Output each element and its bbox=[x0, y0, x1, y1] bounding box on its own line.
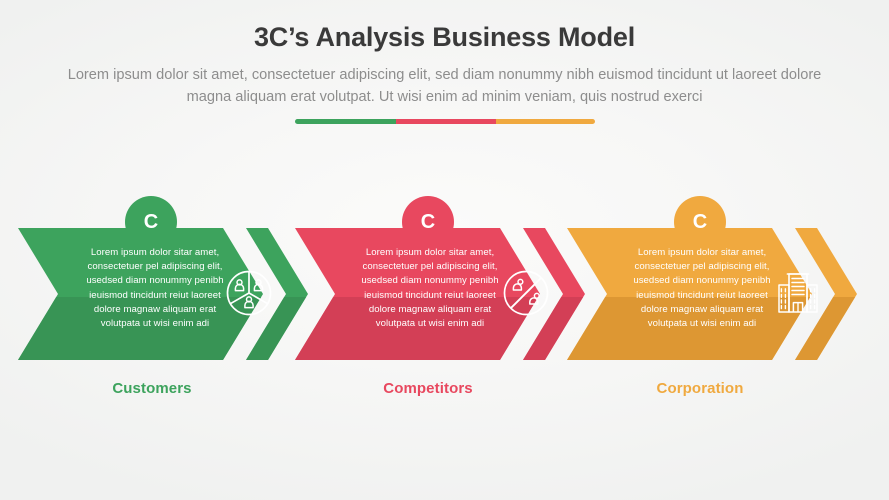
divider-green-segment bbox=[295, 119, 397, 124]
label-customers: Customers bbox=[42, 380, 262, 397]
badge-letter-corporation: C bbox=[693, 211, 707, 233]
arrow-body-corporation bbox=[567, 228, 812, 360]
arrow-body-customers bbox=[18, 228, 263, 360]
divider-red-segment bbox=[396, 119, 495, 124]
block-competitors[interactable]: C bbox=[295, 196, 585, 360]
label-corporation: Corporation bbox=[590, 380, 810, 397]
arrow-body-competitors bbox=[295, 228, 540, 360]
block-labels: Customers Competitors Corporation bbox=[0, 380, 889, 408]
badge-letter-competitors: C bbox=[421, 211, 435, 233]
block-customers[interactable]: C bbox=[18, 196, 308, 360]
label-competitors: Competitors bbox=[318, 380, 538, 397]
page-subtitle: Lorem ipsum dolor sit amet, consectetuer… bbox=[60, 64, 830, 108]
divider-orange-segment bbox=[496, 119, 595, 124]
block-corporation[interactable]: C bbox=[567, 196, 857, 360]
color-divider bbox=[295, 119, 595, 124]
page-title: 3C’s Analysis Business Model bbox=[0, 22, 889, 53]
three-c-arrow-diagram: C C bbox=[0, 180, 889, 380]
header: 3C’s Analysis Business Model Lorem ipsum… bbox=[0, 0, 889, 124]
badge-letter-customers: C bbox=[144, 211, 158, 233]
